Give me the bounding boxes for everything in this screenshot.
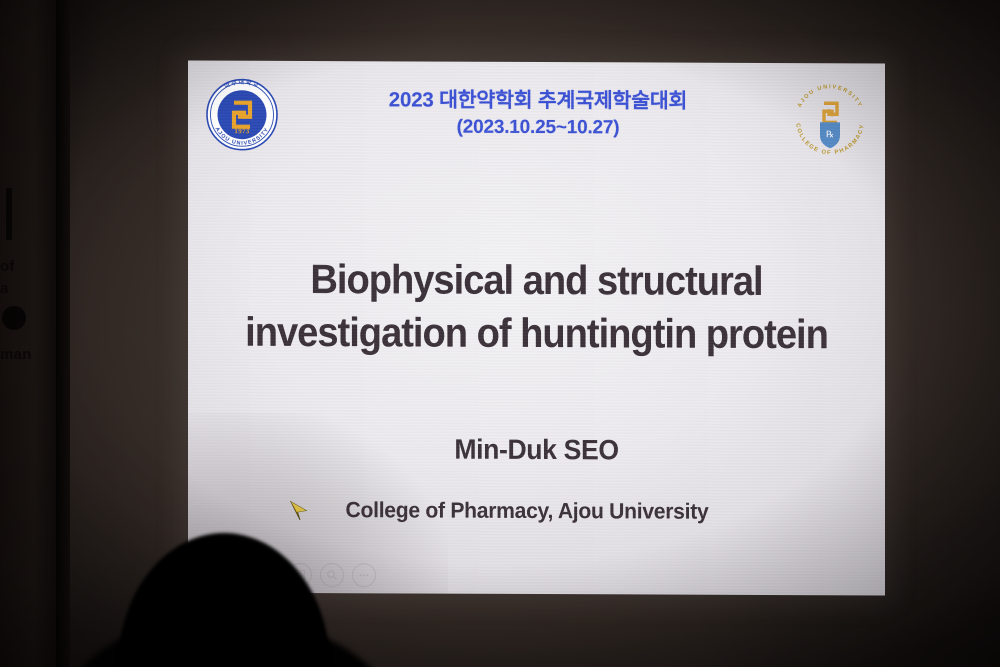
conference-title-block: 2023 대한약학회 추계국제학술대회 (2023.10.25~10.27) [318, 87, 758, 141]
gold-arrow-bullet-icon [288, 500, 308, 522]
ajou-university-seal-logo: 1973 아주대학교 AJOU UNIVERSITY [200, 73, 284, 157]
signage-fragment-of: of [0, 258, 15, 275]
slide-main-title: Biophysical and structural investigation… [244, 253, 829, 362]
conference-dates: (2023.10.25~10.27) [318, 115, 758, 141]
presenter-name: Min-Duk SEO [238, 433, 836, 468]
svg-text:AJOU UNIVERSITY: AJOU UNIVERSITY [797, 84, 863, 109]
affiliation-row: College of Pharmacy, Ajou University [288, 497, 848, 525]
signage-dot-decoration [2, 306, 26, 330]
photographed-lecture-room-scene: of a man [0, 0, 1000, 667]
more-options-button[interactable] [352, 563, 376, 587]
svg-text:℞: ℞ [826, 129, 834, 139]
slide-header: 1973 아주대학교 AJOU UNIVERSITY 2023 대한약학회 추계… [188, 60, 885, 175]
ajou-university-seal-icon: 1973 아주대학교 AJOU UNIVERSITY [200, 73, 284, 157]
ajou-college-of-pharmacy-seal-logo: ℞ AJOU UNIVERSITY COLLEGE OF PHARMACY [787, 77, 873, 163]
zoom-in-button[interactable] [320, 563, 344, 587]
conference-title: 2023 대한약학회 추계국제학술대회 [318, 87, 758, 115]
magnifier-icon [326, 569, 338, 581]
projected-slide: 1973 아주대학교 AJOU UNIVERSITY 2023 대한약학회 추계… [188, 60, 885, 595]
slide-title-line-1: Biophysical and structural [244, 253, 829, 309]
left-edge-shadow [56, 0, 70, 667]
arrow-bullet-glyph [288, 500, 308, 522]
ellipsis-icon [358, 569, 370, 581]
college-of-pharmacy-seal-icon: ℞ AJOU UNIVERSITY COLLEGE OF PHARMACY [787, 77, 873, 163]
left-dark-signage-strip: of a man [0, 0, 62, 667]
signage-fragment-a: a [0, 280, 9, 297]
signage-fragment-man: man [0, 346, 31, 363]
presenter-affiliation: College of Pharmacy, Ajou University [346, 497, 709, 525]
slide-title-line-2: investigation of huntingtin protein [244, 306, 829, 362]
left-signage-partial-text: of a man [0, 188, 46, 378]
svg-text:1973: 1973 [234, 127, 249, 135]
signage-bar-decoration [6, 188, 12, 240]
